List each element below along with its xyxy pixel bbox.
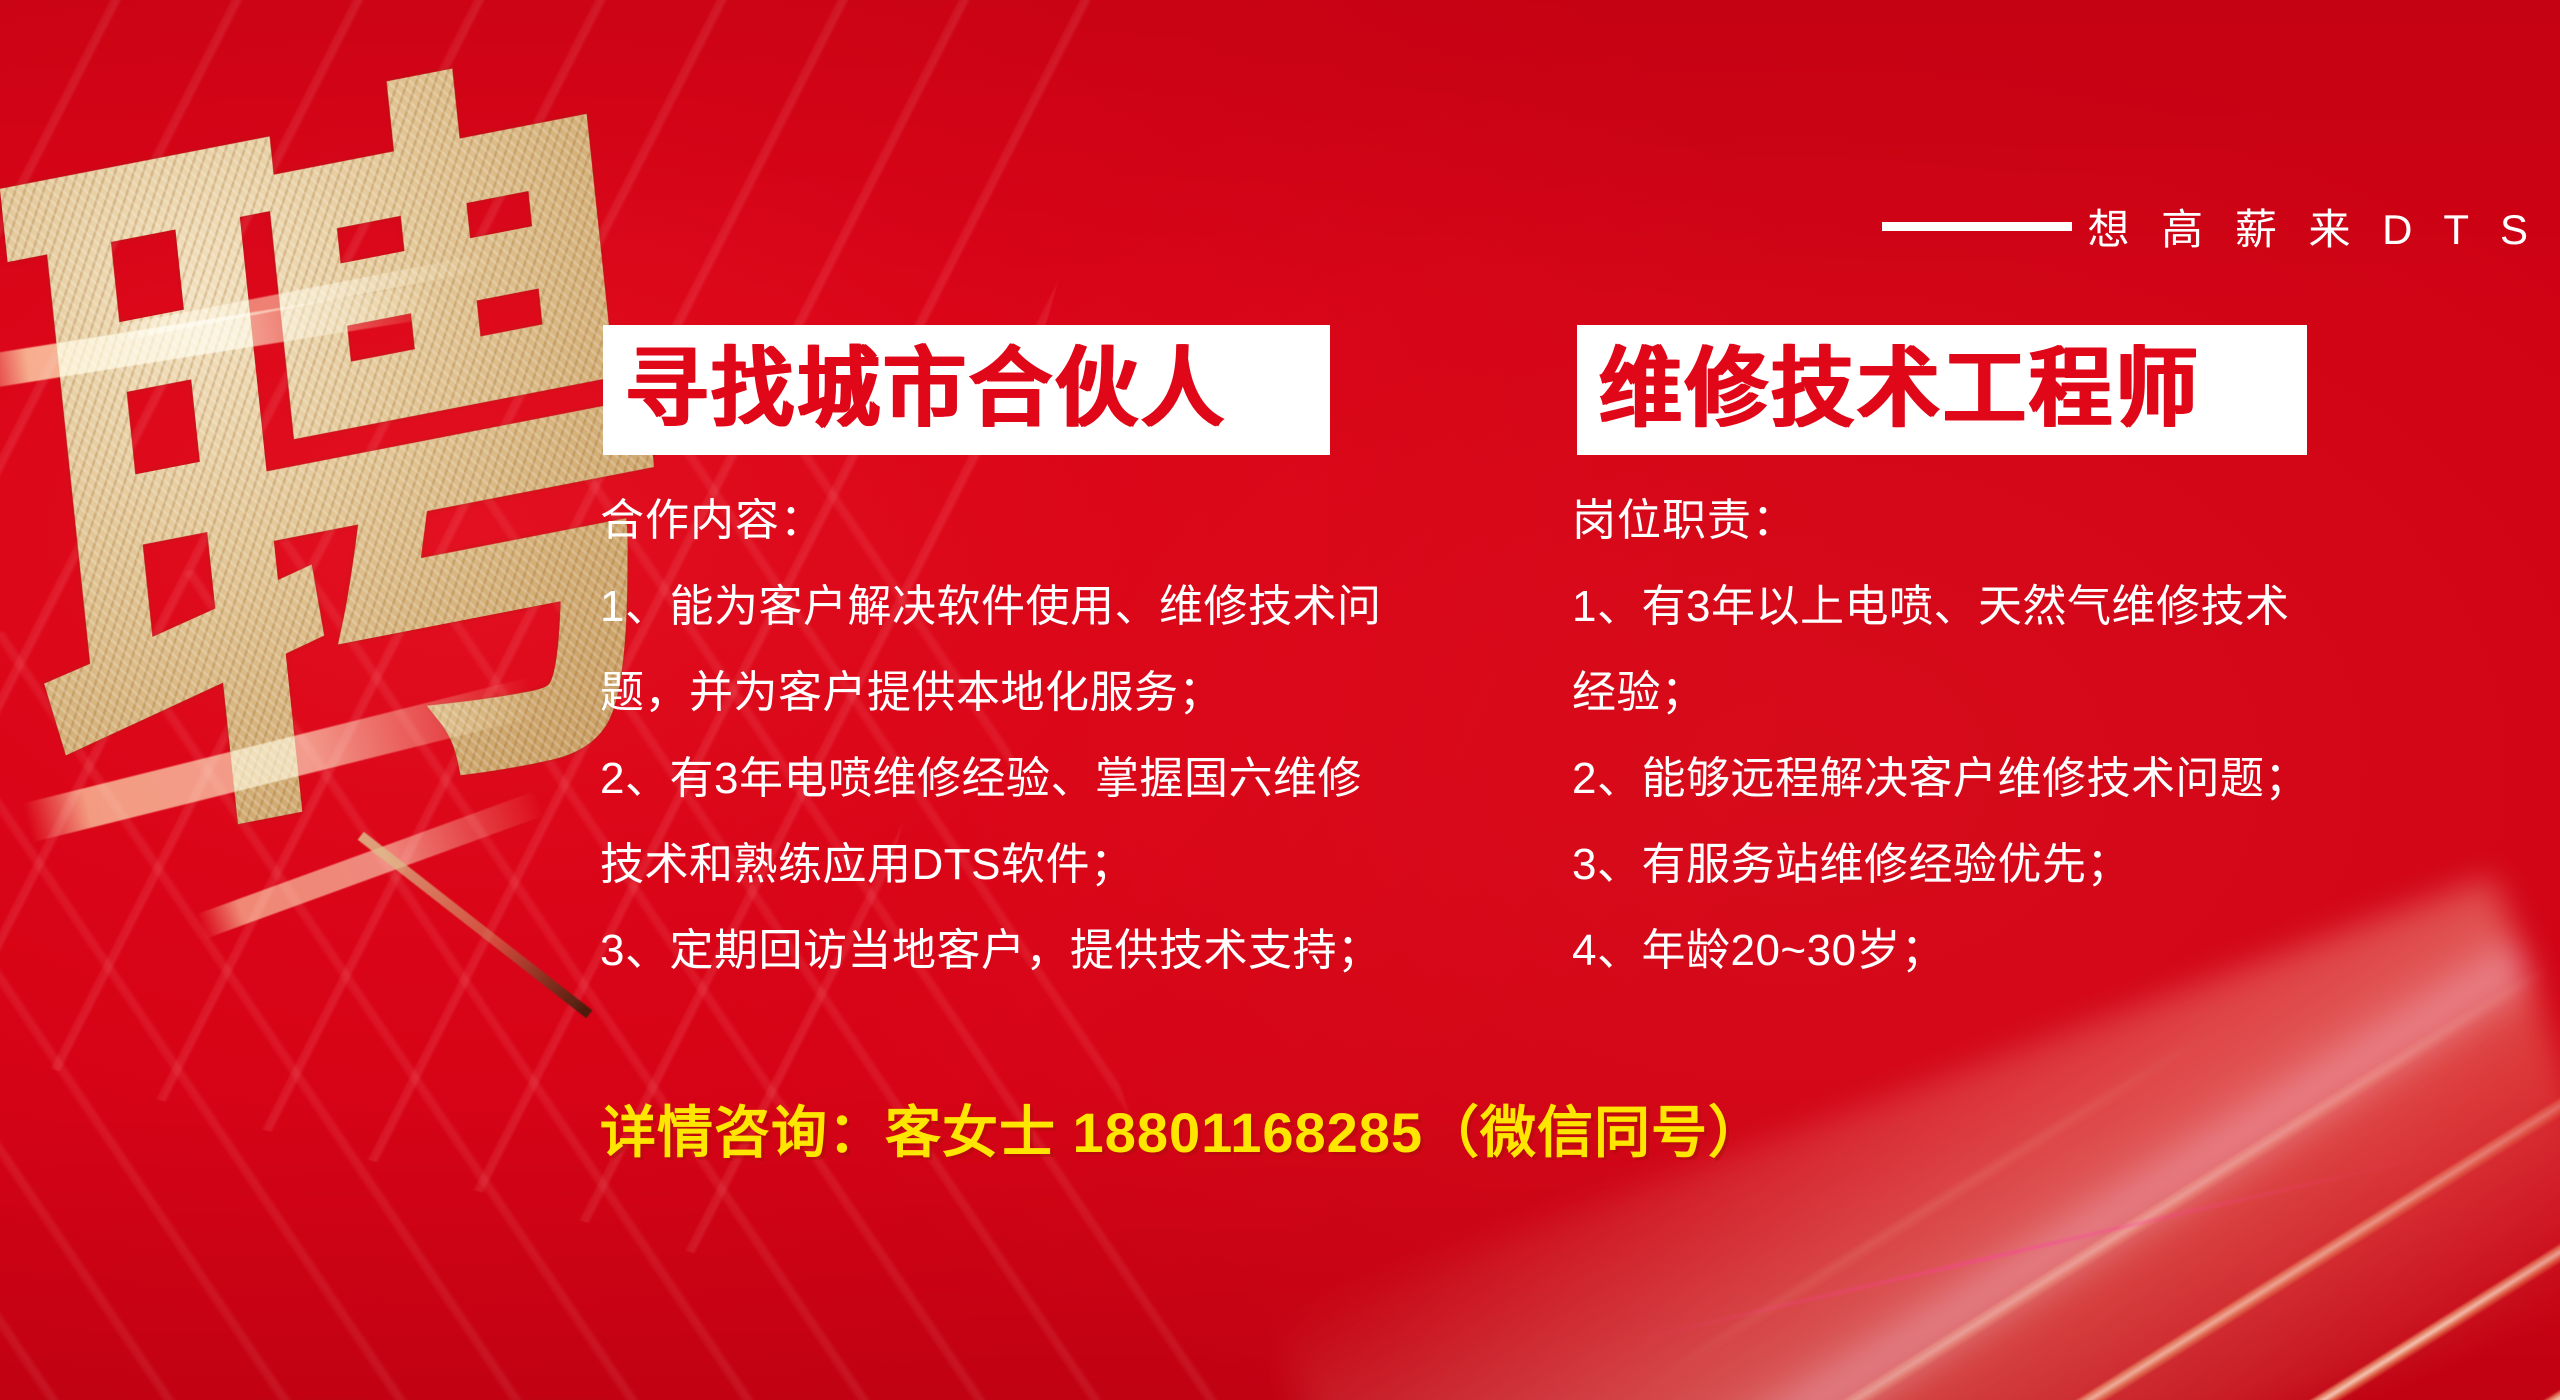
right-item: 3、有服务站维修经验优先； bbox=[1572, 822, 2309, 908]
right-item: 2、能够远程解决客户维修技术问题； bbox=[1572, 736, 2309, 822]
tagline: 想 高 薪 来 D T S bbox=[1882, 196, 2539, 257]
left-item: 1、能为客户解决软件使用、维修技术问 bbox=[600, 564, 1381, 650]
right-item: 4、年龄20~30岁； bbox=[1572, 908, 2309, 994]
tagline-dash-icon bbox=[1882, 222, 2072, 231]
left-item: 3、定期回访当地客户，提供技术支持； bbox=[600, 908, 1381, 994]
right-headline-box: 维修技术工程师 bbox=[1577, 325, 2307, 455]
left-item: 2、有3年电喷维修经验、掌握国六维修 bbox=[600, 736, 1381, 822]
recruitment-poster: 聘 想 高 薪 来 D T S 寻找城市合伙人 维修技术工程师 合作内容： 1、… bbox=[0, 0, 2560, 1400]
left-headline-text: 寻找城市合伙人 bbox=[625, 347, 1227, 434]
left-section-title: 合作内容： bbox=[600, 478, 1381, 564]
right-headline-text: 维修技术工程师 bbox=[1599, 347, 2201, 434]
right-section-title: 岗位职责： bbox=[1572, 478, 2309, 564]
right-item: 经验； bbox=[1572, 650, 2309, 736]
left-headline-box: 寻找城市合伙人 bbox=[603, 325, 1330, 455]
tagline-text: 想 高 薪 来 D T S bbox=[2088, 196, 2539, 257]
contact-line: 详情咨询：客女士 18801168285（微信同号） bbox=[600, 1088, 1765, 1169]
right-item: 1、有3年以上电喷、天然气维修技术 bbox=[1572, 564, 2309, 650]
left-item: 题，并为客户提供本地化服务； bbox=[600, 650, 1381, 736]
right-content-column: 岗位职责： 1、有3年以上电喷、天然气维修技术 经验； 2、能够远程解决客户维修… bbox=[1572, 478, 2309, 994]
left-content-column: 合作内容： 1、能为客户解决软件使用、维修技术问 题，并为客户提供本地化服务； … bbox=[600, 478, 1381, 994]
left-item: 技术和熟练应用DTS软件； bbox=[600, 822, 1381, 908]
